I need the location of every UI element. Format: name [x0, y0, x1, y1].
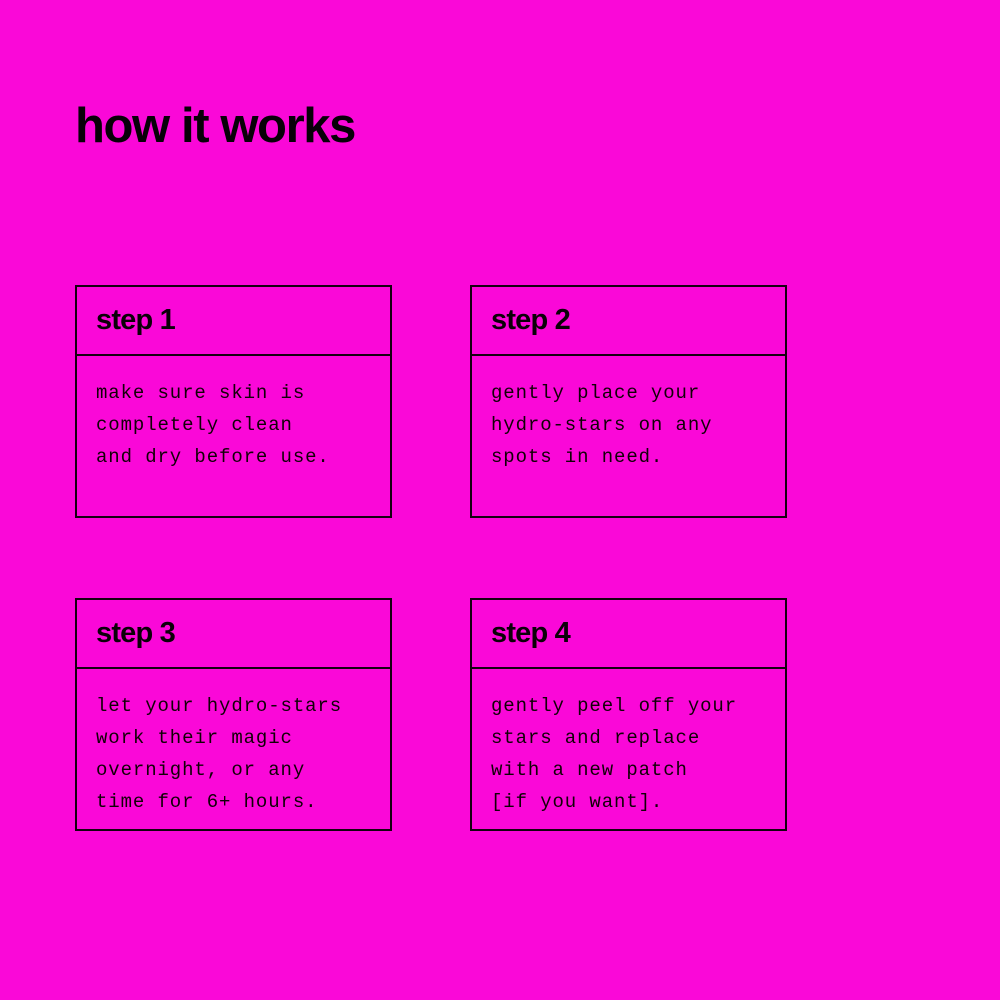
- page-title: how it works: [75, 100, 355, 153]
- step-card-1-line-1: make sure skin is: [96, 377, 378, 409]
- step-card-3-header: step 3: [77, 600, 390, 669]
- steps-grid: step 1 make sure skin is completely clea…: [75, 285, 787, 831]
- step-card-3-line-4: time for 6+ hours.: [96, 786, 378, 818]
- step-card-4-title: step 4: [491, 617, 570, 650]
- step-card-2: step 2 gently place your hydro-stars on …: [470, 285, 787, 518]
- step-card-1: step 1 make sure skin is completely clea…: [75, 285, 392, 518]
- step-card-2-header: step 2: [472, 287, 785, 356]
- how-it-works-page: how it works step 1 make sure skin is co…: [0, 0, 1000, 1000]
- step-card-4-line-4: [if you want].: [491, 786, 773, 818]
- step-card-1-line-2: completely clean: [96, 409, 378, 441]
- step-card-2-body: gently place your hydro-stars on any spo…: [472, 356, 785, 516]
- step-card-2-line-2: hydro-stars on any: [491, 409, 773, 441]
- step-card-3-line-2: work their magic: [96, 722, 378, 754]
- step-card-2-line-3: spots in need.: [491, 441, 773, 473]
- step-card-2-line-1: gently place your: [491, 377, 773, 409]
- step-card-4: step 4 gently peel off your stars and re…: [470, 598, 787, 831]
- step-card-3-body: let your hydro-stars work their magic ov…: [77, 669, 390, 829]
- step-card-3: step 3 let your hydro-stars work their m…: [75, 598, 392, 831]
- step-card-1-title: step 1: [96, 304, 175, 337]
- step-card-4-line-3: with a new patch: [491, 754, 773, 786]
- step-card-3-line-1: let your hydro-stars: [96, 690, 378, 722]
- step-card-4-header: step 4: [472, 600, 785, 669]
- step-card-1-body: make sure skin is completely clean and d…: [77, 356, 390, 516]
- step-card-4-body: gently peel off your stars and replace w…: [472, 669, 785, 829]
- step-card-4-line-1: gently peel off your: [491, 690, 773, 722]
- step-card-2-title: step 2: [491, 304, 570, 337]
- step-card-3-title: step 3: [96, 617, 175, 650]
- step-card-4-line-2: stars and replace: [491, 722, 773, 754]
- step-card-3-line-3: overnight, or any: [96, 754, 378, 786]
- step-card-1-line-3: and dry before use.: [96, 441, 378, 473]
- step-card-1-header: step 1: [77, 287, 390, 356]
